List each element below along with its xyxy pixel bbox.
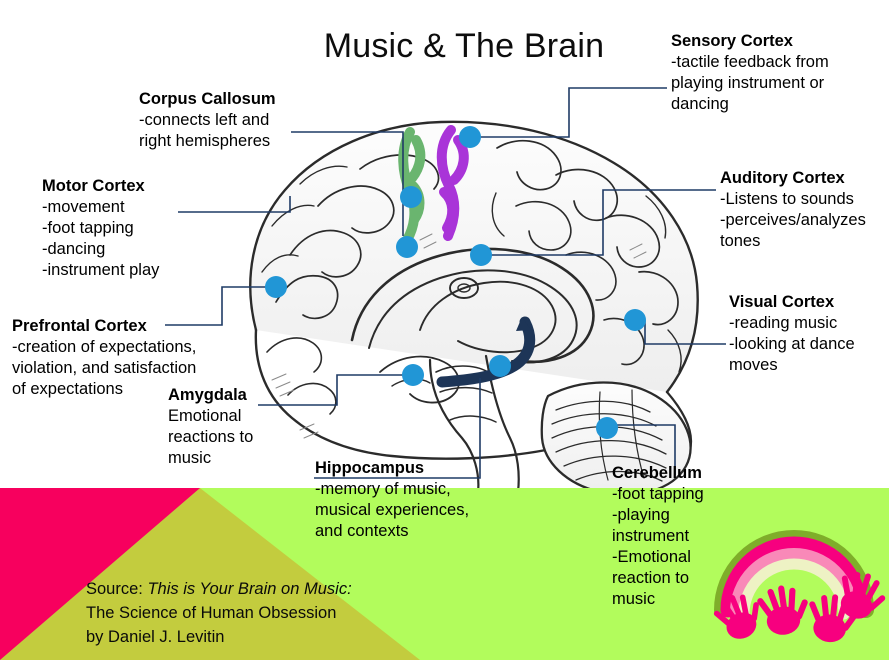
label-body: -movement -foot tapping -dancing -instru… [42, 197, 159, 281]
label-heading: Prefrontal Cortex [12, 316, 196, 337]
label-visual-cortex: Visual Cortex -reading music -looking at… [729, 292, 855, 376]
label-hippocampus: Hippocampus -memory of music, musical ex… [315, 458, 469, 542]
source-line-2: The Science of Human Obsession [86, 601, 352, 625]
label-heading: Corpus Callosum [139, 89, 276, 110]
label-heading: Sensory Cortex [671, 31, 829, 52]
label-heading: Auditory Cortex [720, 168, 866, 189]
page-title: Music & The Brain [314, 26, 614, 66]
hippocampus-arrow [442, 317, 531, 382]
label-motor-cortex: Motor Cortex -movement -foot tapping -da… [42, 176, 159, 281]
label-cerebellum: Cerebellum -foot tapping -playing instru… [612, 463, 704, 610]
sensory-cortex-strip [442, 130, 464, 236]
label-amygdala: Amygdala Emotional reactions to music [168, 385, 253, 469]
label-corpus-callosum: Corpus Callosum -connects left and right… [139, 89, 276, 152]
label-body: -tactile feedback from playing instrumen… [671, 52, 829, 115]
label-body: Emotional reactions to music [168, 406, 253, 469]
label-heading: Motor Cortex [42, 176, 159, 197]
label-body: -memory of music, musical experiences, a… [315, 479, 469, 542]
label-auditory-cortex: Auditory Cortex -Listens to sounds -perc… [720, 168, 866, 252]
source-book-title: This is Your Brain on Music: [147, 580, 351, 598]
label-body: -reading music -looking at dance moves [729, 313, 855, 376]
motor-cortex-strip [403, 132, 420, 240]
source-prefix: Source: [86, 580, 147, 598]
label-body: -Listens to sounds -perceives/analyzes t… [720, 189, 866, 252]
label-body: -connects left and right hemispheres [139, 110, 276, 152]
source-line-3: by Daniel J. Levitin [86, 625, 352, 649]
infographic-canvas: Music & The Brain [0, 0, 889, 660]
label-sensory-cortex: Sensory Cortex -tactile feedback from pl… [671, 31, 829, 115]
label-heading: Cerebellum [612, 463, 704, 484]
source-line-1: Source: This is Your Brain on Music: [86, 577, 352, 601]
label-heading: Amygdala [168, 385, 253, 406]
label-heading: Visual Cortex [729, 292, 855, 313]
label-body: -foot tapping -playing instrument -Emoti… [612, 484, 704, 610]
source-citation: Source: This is Your Brain on Music: The… [86, 577, 352, 649]
label-heading: Hippocampus [315, 458, 469, 479]
